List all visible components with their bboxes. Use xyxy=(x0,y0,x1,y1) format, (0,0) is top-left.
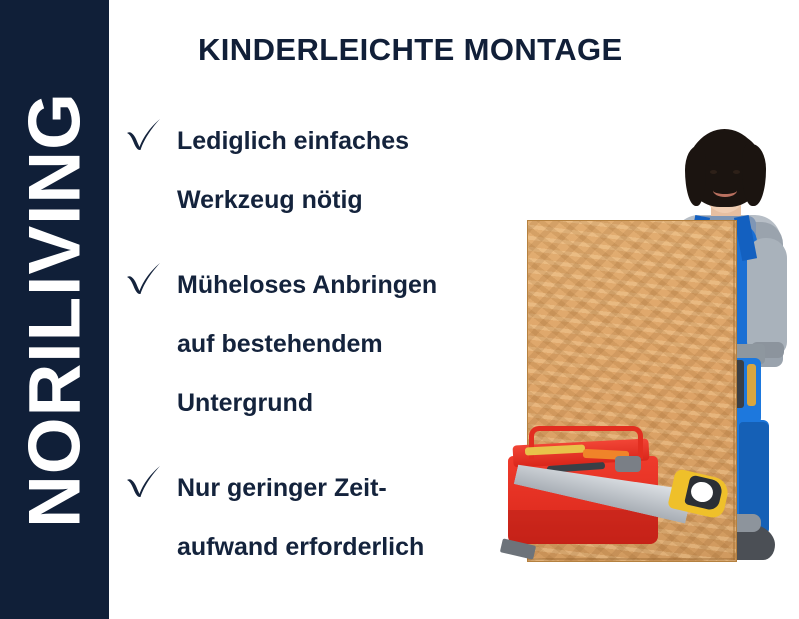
pouch-tool-yellow xyxy=(747,364,756,406)
list-item-text: Lediglich einfaches Werkzeug nötig xyxy=(124,112,524,230)
benefit-list: Lediglich einfaches Werkzeug nötig Mühel… xyxy=(124,112,524,577)
toolbox-shadow xyxy=(508,510,658,544)
brand-name: NORILIVING xyxy=(18,92,91,528)
list-item-line: aufwand erforderlich xyxy=(177,518,524,577)
list-item: Nur geringer Zeit- aufwand erforderlich xyxy=(124,459,524,577)
hair-side-right xyxy=(742,144,766,206)
list-item-line: auf bestehendem xyxy=(177,315,524,374)
check-icon xyxy=(124,260,164,296)
list-item-line: Untergrund xyxy=(177,374,524,433)
smile xyxy=(713,184,737,197)
eye-left xyxy=(710,170,717,174)
product-photo xyxy=(495,120,799,600)
eye-right xyxy=(733,170,740,174)
list-item-line: Lediglich einfaches xyxy=(177,112,524,171)
list-item-text: Müheloses Anbringen auf bestehendem Unte… xyxy=(124,256,524,433)
list-item: Lediglich einfaches Werkzeug nötig xyxy=(124,112,524,230)
list-item-line: Nur geringer Zeit- xyxy=(177,459,524,518)
hair-side-left xyxy=(685,146,706,206)
list-item-line: Müheloses Anbringen xyxy=(177,256,524,315)
check-icon xyxy=(124,463,164,499)
list-item: Müheloses Anbringen auf bestehendem Unte… xyxy=(124,256,524,433)
list-item-line: Werkzeug nötig xyxy=(177,171,524,230)
brand-sidebar: NORILIVING xyxy=(0,0,109,619)
check-icon xyxy=(124,116,164,152)
promo-poster: NORILIVING KINDERLEICHTE MONTAGE Ledigli… xyxy=(0,0,799,619)
list-item-text: Nur geringer Zeit- aufwand erforderlich xyxy=(124,459,524,577)
page-title: KINDERLEICHTE MONTAGE xyxy=(198,32,623,68)
toolbox-hammer xyxy=(615,456,641,472)
